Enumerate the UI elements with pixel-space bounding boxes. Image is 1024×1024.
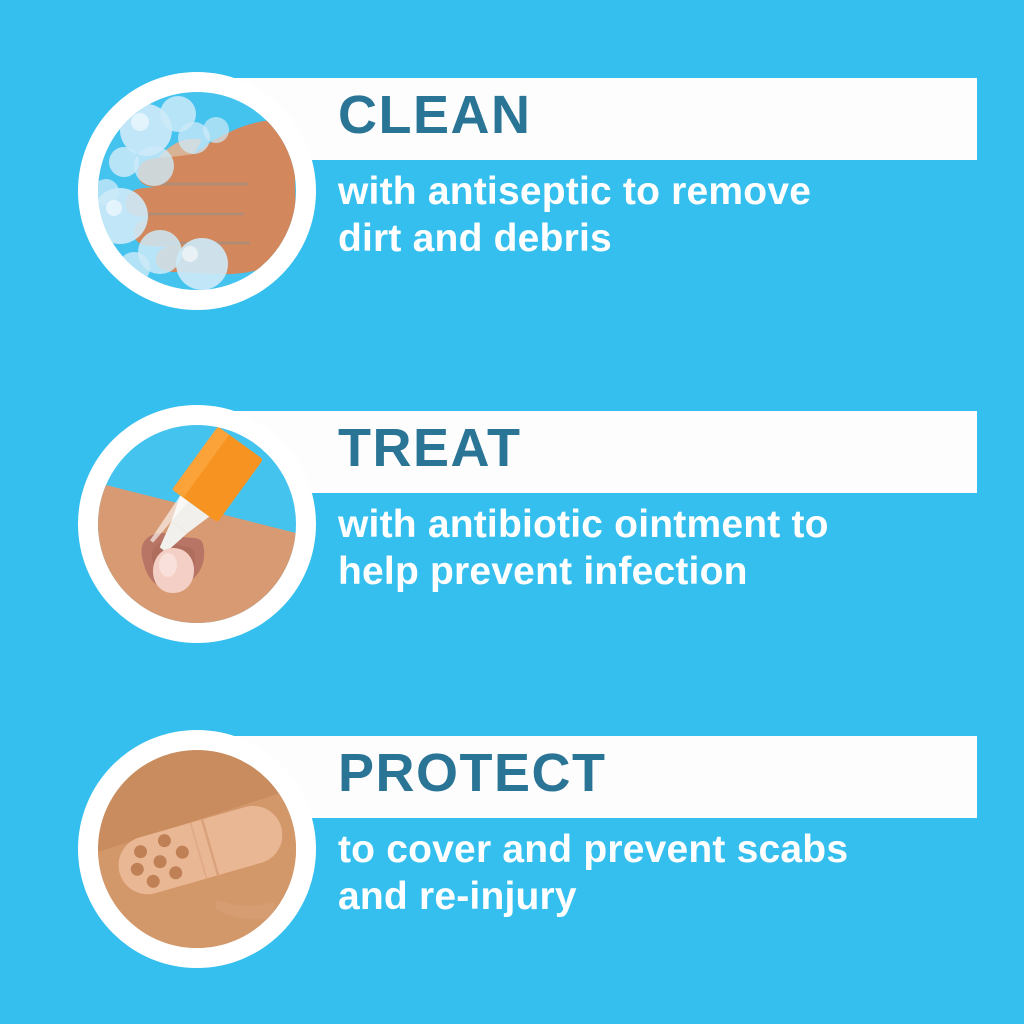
- icon-disc: [98, 92, 296, 290]
- icon-circle-clean: [78, 72, 316, 310]
- step-heading-clean: CLEAN: [338, 84, 532, 146]
- step-description-clean: with antiseptic to remove dirt and debri…: [338, 168, 998, 262]
- description-line: with antibiotic ointment to: [338, 501, 998, 548]
- icon-disc: [98, 750, 296, 948]
- description-line: and re-injury: [338, 873, 998, 920]
- step-heading-protect: PROTECT: [338, 742, 607, 804]
- step-heading-treat: TREAT: [338, 417, 521, 479]
- hand-washing-with-soap-icon: [98, 92, 296, 290]
- step-description-protect: to cover and prevent scabs and re-injury: [338, 826, 998, 920]
- icon-circle-protect: [78, 730, 316, 968]
- infographic-board: CLEAN with antiseptic to remove dirt and…: [0, 0, 1024, 1024]
- ointment-tube-on-wound-icon: [98, 425, 296, 623]
- description-line: help prevent infection: [338, 548, 998, 595]
- description-line: to cover and prevent scabs: [338, 826, 998, 873]
- description-line: dirt and debris: [338, 215, 998, 262]
- step-description-treat: with antibiotic ointment to help prevent…: [338, 501, 998, 595]
- icon-circle-treat: [78, 405, 316, 643]
- description-line: with antiseptic to remove: [338, 168, 998, 215]
- adhesive-bandage-on-skin-icon: [98, 750, 296, 948]
- icon-disc: [98, 425, 296, 623]
